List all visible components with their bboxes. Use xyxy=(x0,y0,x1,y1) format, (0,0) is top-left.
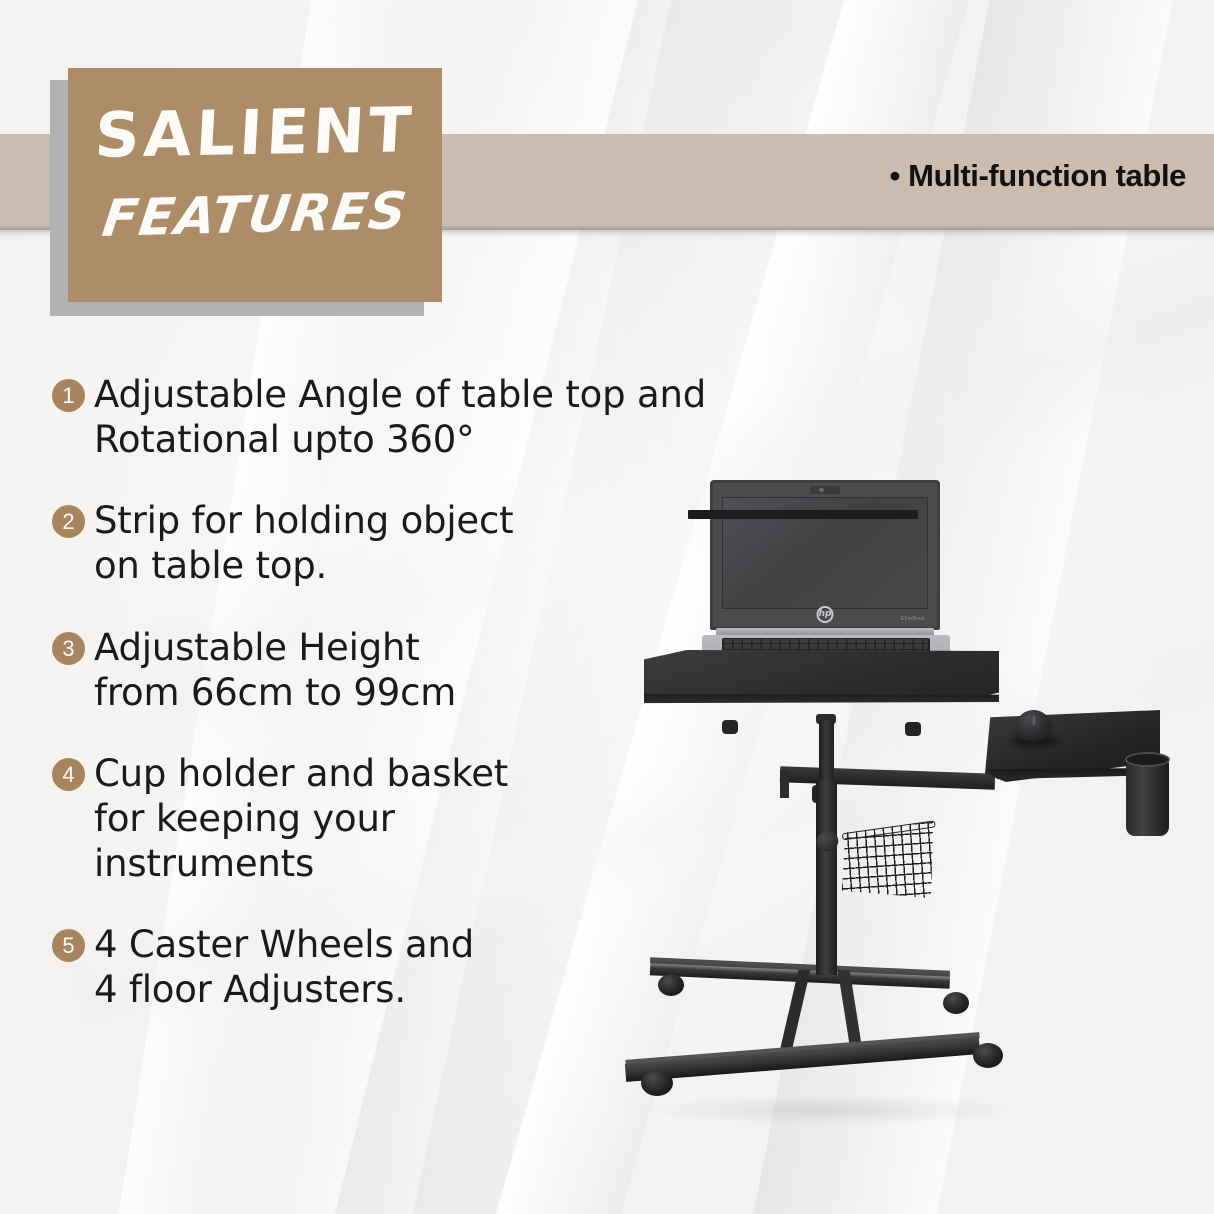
column-upper xyxy=(819,720,834,780)
banner-caption: • Multi-function table xyxy=(889,158,1186,194)
page-title: SALIENT xyxy=(66,93,444,173)
cross-arm-end xyxy=(780,770,789,798)
laptop: hp EliteBook xyxy=(710,480,940,665)
feature-line: for keeping your xyxy=(94,796,508,841)
list-item: 4 Cup holder and basket for keeping your… xyxy=(52,751,652,886)
caster-wheel xyxy=(943,992,969,1014)
table-top xyxy=(644,650,999,712)
number-badge: 2 xyxy=(52,505,85,538)
hp-logo-icon: hp xyxy=(817,606,834,623)
feature-text: Cup holder and basket for keeping your i… xyxy=(94,751,508,886)
table-top-edge xyxy=(644,694,999,707)
feature-line: Cup holder and basket xyxy=(94,751,508,796)
caster-wheel xyxy=(973,1043,1003,1068)
feature-line: 4 floor Adjusters. xyxy=(94,967,474,1012)
front-leg xyxy=(625,1036,980,1082)
feature-line: Rotational upto 360° xyxy=(94,417,706,462)
product-photo: hp EliteBook xyxy=(630,470,1190,1190)
feature-text: Adjustable Angle of table top and Rotati… xyxy=(94,372,706,462)
holding-strip xyxy=(688,510,918,519)
laptop-model-label: EliteBook xyxy=(901,616,925,622)
feature-line: Strip for holding object xyxy=(94,498,513,543)
laptop-lid: hp EliteBook xyxy=(710,480,940,630)
tilt-knob xyxy=(722,720,738,734)
feature-list: 1 Adjustable Angle of table top and Rota… xyxy=(52,372,652,1048)
page-subtitle: FEATURES xyxy=(63,181,446,250)
number-badge: 4 xyxy=(52,758,85,791)
number-badge: 5 xyxy=(52,929,85,962)
caster-wheel xyxy=(641,1070,673,1096)
feature-text: 4 Caster Wheels and 4 floor Adjusters. xyxy=(94,922,474,1012)
cup-holder-rim xyxy=(1125,752,1170,767)
feature-line: Adjustable Height xyxy=(94,625,456,670)
feature-line: instruments xyxy=(94,841,508,886)
list-item: 3 Adjustable Height from 66cm to 99cm xyxy=(52,625,652,715)
feature-text: Strip for holding object on table top. xyxy=(94,498,513,588)
number-badge: 3 xyxy=(52,632,85,665)
wire-basket xyxy=(837,822,938,905)
feature-line: Adjustable Angle of table top and xyxy=(94,372,706,417)
title-box: SALIENT FEATURES xyxy=(68,68,442,302)
tilt-knob xyxy=(905,722,921,736)
list-item: 5 4 Caster Wheels and 4 floor Adjusters. xyxy=(52,922,652,1012)
cup-holder xyxy=(1126,758,1169,836)
feature-line: 4 Caster Wheels and xyxy=(94,922,474,967)
caster-wheel xyxy=(658,974,684,996)
list-item: 2 Strip for holding object on table top. xyxy=(52,498,652,588)
computer-mouse xyxy=(1015,710,1052,741)
feature-line: on table top. xyxy=(94,543,513,588)
list-item: 1 Adjustable Angle of table top and Rota… xyxy=(52,372,652,462)
feature-text: Adjustable Height from 66cm to 99cm xyxy=(94,625,456,715)
floor-shadow xyxy=(640,1095,1020,1125)
product-feature-slide: • Multi-function table SALIENT FEATURES … xyxy=(0,0,1214,1214)
height-column xyxy=(816,780,837,975)
webcam-icon xyxy=(810,486,840,494)
number-badge: 1 xyxy=(52,379,85,412)
feature-line: from 66cm to 99cm xyxy=(94,670,456,715)
